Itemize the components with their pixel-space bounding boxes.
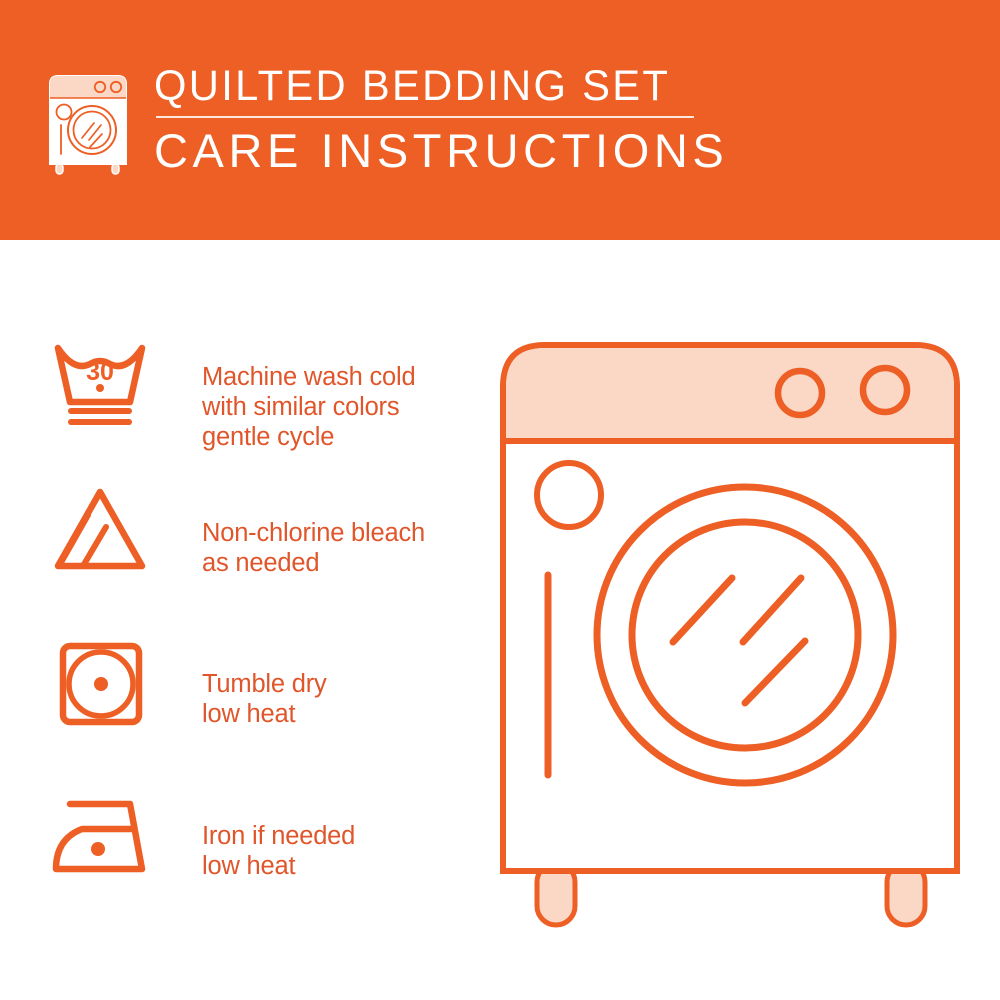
iron-low-heat-icon <box>48 791 158 879</box>
care-text: Non-chlorine bleach as needed <box>202 518 425 578</box>
iron-heat-dot <box>91 842 105 856</box>
control-knob-2[interactable] <box>863 368 907 412</box>
wash-temperature-label: 30 <box>86 358 114 386</box>
non-chlorine-bleach-triangle-icon <box>48 484 152 574</box>
detergent-dial <box>537 463 601 527</box>
header-title-group: QUILTED BEDDING SET CARE INSTRUCTIONS <box>154 62 728 177</box>
tumble-dry-low-heat-icon <box>48 636 152 732</box>
care-instructions-infographic: QUILTED BEDDING SET CARE INSTRUCTIONS 30… <box>0 0 1000 1000</box>
care-row: Tumble dry low heat <box>48 636 478 732</box>
care-row: Iron if needed low heat <box>48 791 478 881</box>
dry-heat-dot <box>94 677 108 691</box>
care-symbol-slot <box>48 484 158 574</box>
title-divider <box>156 116 694 118</box>
front-load-washing-machine-illustration <box>495 335 965 930</box>
header-content: QUILTED BEDDING SET CARE INSTRUCTIONS <box>42 62 728 177</box>
control-knob-1[interactable] <box>778 371 822 415</box>
care-row: 30 Machine wash cold with similar colors… <box>48 336 478 452</box>
care-text: Machine wash cold with similar colors ge… <box>202 362 415 452</box>
care-text: Tumble dry low heat <box>202 669 327 729</box>
care-symbol-slot <box>48 791 158 879</box>
care-symbol-slot: 30 <box>48 336 158 432</box>
page-subtitle: CARE INSTRUCTIONS <box>154 125 728 177</box>
care-row: Non-chlorine bleach as needed <box>48 484 478 578</box>
machine-wash-30-gentle-icon: 30 <box>48 336 152 432</box>
header-banner: QUILTED BEDDING SET CARE INSTRUCTIONS <box>0 0 1000 240</box>
care-text: Iron if needed low heat <box>202 821 355 881</box>
care-symbol-slot <box>48 636 158 732</box>
washing-machine-icon <box>42 68 134 176</box>
wash-dot <box>96 384 104 392</box>
page-title: QUILTED BEDDING SET <box>154 62 711 110</box>
